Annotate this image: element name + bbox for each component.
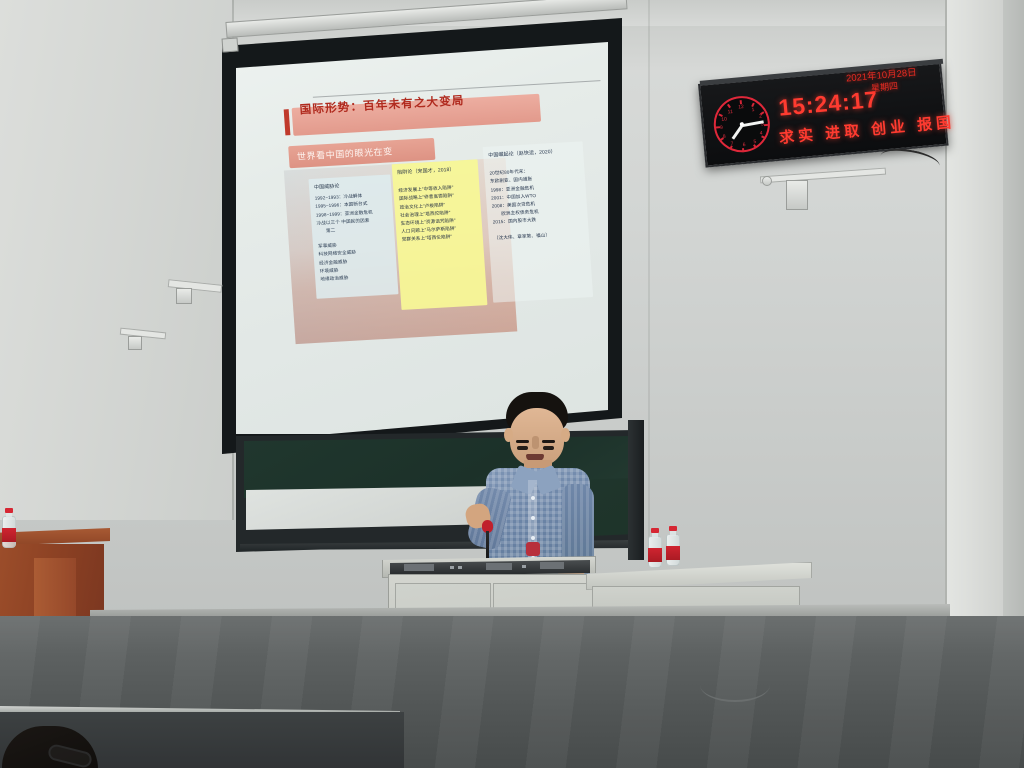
lectern-water-bottle[interactable] <box>2 508 14 538</box>
wall-pillar <box>945 0 1005 660</box>
slide-column-trap: 陷阱论（宋国才，2018） 经济发展上"中等收入陷阱" 国际战略上"修昔底德陷阱… <box>392 159 488 310</box>
wall-pillar-edge <box>1003 0 1024 700</box>
clock-numeral: 2 <box>759 113 762 119</box>
clock-numeral: 6 <box>742 142 745 148</box>
bracket-clamp <box>762 176 772 186</box>
ceiling-speaker-bracket <box>786 180 808 210</box>
water-bottle[interactable] <box>666 526 680 566</box>
lecturer-ear <box>504 428 513 442</box>
left-wall-panel <box>0 0 232 520</box>
clock-numeral: 4 <box>759 130 762 136</box>
slide-column-rise: 中国崛起论（赵快运，2020） 20世纪80年代末： 东欧剧变、国内通胀 199… <box>483 141 593 302</box>
clock-numeral: 11 <box>727 109 733 115</box>
clock-numeral: 10 <box>721 117 727 123</box>
floor-cable <box>700 668 770 702</box>
clock-numeral: 8 <box>723 134 726 140</box>
led-time-display: 15:24:17 <box>777 86 879 122</box>
projection-screen: 国际形势：百年未有之大变局 世界看中国的眼光在变 中国威胁论 1992~1993… <box>208 18 626 454</box>
screen-roller-cap <box>222 37 239 52</box>
slide-title-accent <box>284 109 291 135</box>
clock-numeral: 7 <box>730 141 733 147</box>
lecturer-badge <box>526 542 540 556</box>
screen-surface: 国际形势：百年未有之大变局 世界看中国的眼光在变 中国威胁论 1992~1993… <box>226 42 608 434</box>
presentation-slide: 国际形势：百年未有之大变局 世界看中国的眼光在变 中国威胁论 1992~1993… <box>256 65 637 437</box>
blackboard-side-rail <box>628 420 644 560</box>
clock-numeral: 9 <box>720 125 723 131</box>
left-wall-fixture <box>176 288 192 304</box>
lecturer-ear <box>561 428 570 442</box>
clock-numeral: 5 <box>753 139 756 145</box>
led-weekday-display: 星期四 <box>870 79 898 94</box>
wall-seam <box>648 0 650 560</box>
column-heading: 中国威胁论 <box>314 180 386 192</box>
slide-column-threat: 中国威胁论 1992~1993：冷战解体 1995~1996：本国断台式 199… <box>308 174 398 298</box>
lecturer-nose <box>532 436 539 449</box>
water-bottle[interactable] <box>648 528 662 568</box>
clock-numeral: 1 <box>751 107 754 113</box>
column-heading: 陷阱论（宋国才，2018） <box>397 165 473 178</box>
lecture-hall-photo: 国际形势：百年未有之大变局 世界看中国的眼光在变 中国威胁论 1992~1993… <box>0 0 1024 768</box>
blackboard-whiteboard-panel <box>246 486 498 530</box>
clock-numeral: 12 <box>738 104 744 110</box>
analog-clock-face: 12 3 6 9 1 2 4 5 7 8 10 11 <box>711 94 772 155</box>
left-wall-fixture-lower <box>128 336 142 350</box>
